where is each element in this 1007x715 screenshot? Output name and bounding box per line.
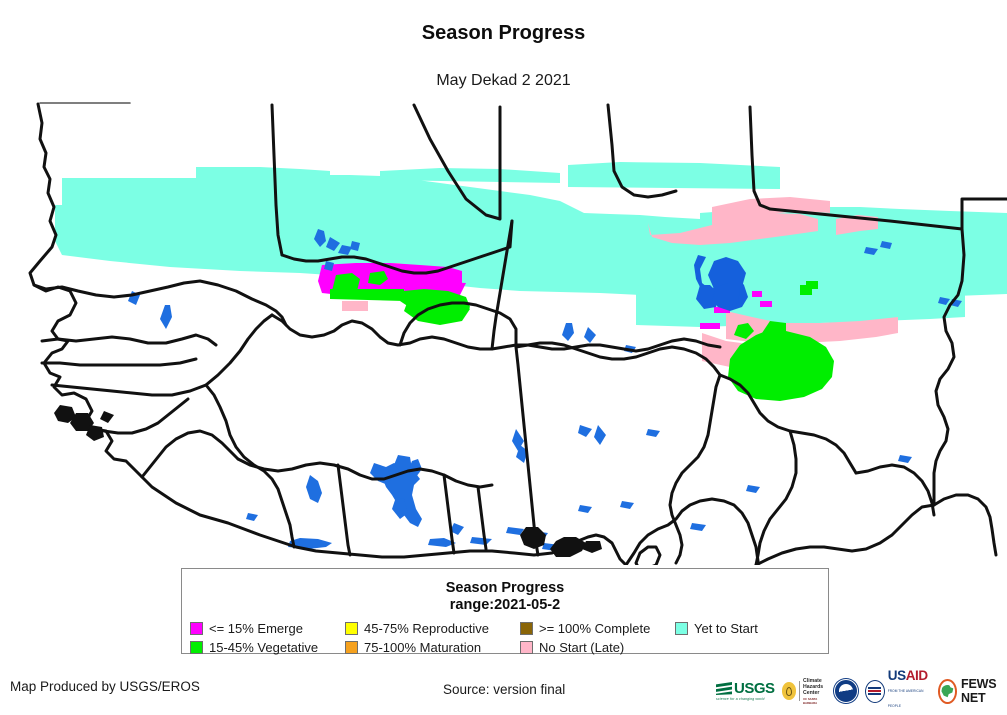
season-progress-map-page: Season Progress May Dekad 2 2021 [0,0,1007,715]
legend-label-emerge: <= 15% Emerge [209,621,303,636]
border-ivory-coast-ghana [338,465,350,555]
legend-item-reproductive[interactable]: 45-75% Reproductive [345,620,520,637]
legend-item-maturation[interactable]: 75-100% Maturation [345,639,520,656]
water-drop-icon [782,682,797,700]
border-gambia-north [42,335,216,345]
legend-swatch-emerge [190,622,203,635]
legend-item-yet-to-start[interactable]: Yet to Start [675,620,815,637]
usaid-wordmark-aid: AID [906,668,928,683]
border-nigeria-cameroon [670,375,720,563]
usgs-wave-icon [716,682,732,695]
legend-item-no-start-late[interactable]: No Start (Late) [520,639,675,656]
legend-column-1: <= 15% Emerge 15-45% Vegetative [190,620,345,656]
class-yet-to-start-areas [55,162,1007,327]
fews-net-logo: FEWS NET [938,676,1007,706]
legend-swatch-no-start-late [520,641,533,654]
chc-line-3: Center [803,690,827,696]
legend-swatch-complete [520,622,533,635]
chc-subline: UC SANTA BARBARA [803,697,827,705]
border-car-cameroon [756,431,796,565]
usaid-wordmark-us: US [888,668,906,683]
usaid-tagline: FROM THE AMERICAN PEOPLE [888,689,924,708]
legend-swatch-maturation [345,641,358,654]
globe-icon [938,679,957,704]
fews-net-wordmark: FEWS NET [961,677,1007,705]
border-senegal-mauritania [34,281,286,325]
usgs-wordmark: USGS [734,682,775,696]
border-sierra-leone-liberia [104,399,188,433]
border-burkina-south [238,459,492,487]
border-sudan-far-east [934,495,996,555]
footer-produced-by: Map Produced by USGS/EROS [10,679,200,694]
usaid-seal-icon [865,680,885,703]
footer-source: Source: version final [443,682,565,697]
legend-item-emerge[interactable]: <= 15% Emerge [190,620,345,637]
legend-label-yet-to-start: Yet to Start [694,621,758,636]
legend-label-maturation: 75-100% Maturation [364,640,481,655]
legend-item-vegetative[interactable]: 15-45% Vegetative [190,639,345,656]
legend-label-no-start-late: No Start (Late) [539,640,624,655]
legend-items: <= 15% Emerge 15-45% Vegetative 45-75% R… [182,620,828,656]
noaa-seal-icon [834,679,858,703]
usgs-logo: USGS science for a changing world [716,676,775,706]
border-gambia-south [42,359,196,365]
map-canvas[interactable] [0,95,1007,565]
legend-column-2: 45-75% Reproductive 75-100% Maturation [345,620,520,656]
legend-label-vegetative: 15-45% Vegetative [209,640,318,655]
climate-hazards-center-logo: Climate Hazards Center UC SANTA BARBARA [782,676,827,706]
legend-label-complete: >= 100% Complete [539,621,650,636]
border-liberia-ivory-coast [142,431,238,477]
legend-column-4: Yet to Start [675,620,815,656]
logo-divider [799,681,800,701]
map-legend: Season Progress range:2021-05-2 <= 15% E… [181,568,829,654]
page-title: Season Progress [0,22,1007,45]
africa-season-progress-map[interactable] [0,95,1007,565]
coastline-central-africa [626,499,758,565]
coast-bioko [636,547,660,565]
border-chad-libya [750,107,770,209]
legend-swatch-reproductive [345,622,358,635]
legend-swatch-vegetative [190,641,203,654]
usgs-tagline: science for a changing world [716,697,775,701]
legend-item-complete[interactable]: >= 100% Complete [520,620,675,637]
legend-range: range:2021-05-2 [182,597,828,614]
noaa-logo [834,676,858,706]
legend-column-3: >= 100% Complete No Start (Late) [520,620,675,656]
border-car-south [756,505,934,565]
page-subtitle: May Dekad 2 2021 [0,72,1007,90]
legend-swatch-yet-to-start [675,622,688,635]
legend-title: Season Progress [182,580,828,597]
usaid-logo: USAID FROM THE AMERICAN PEOPLE [865,676,931,706]
border-senegal-south [52,315,272,395]
footer-logos: USGS science for a changing world Climat… [716,672,1007,710]
legend-label-reproductive: 45-75% Reproductive [364,621,489,636]
